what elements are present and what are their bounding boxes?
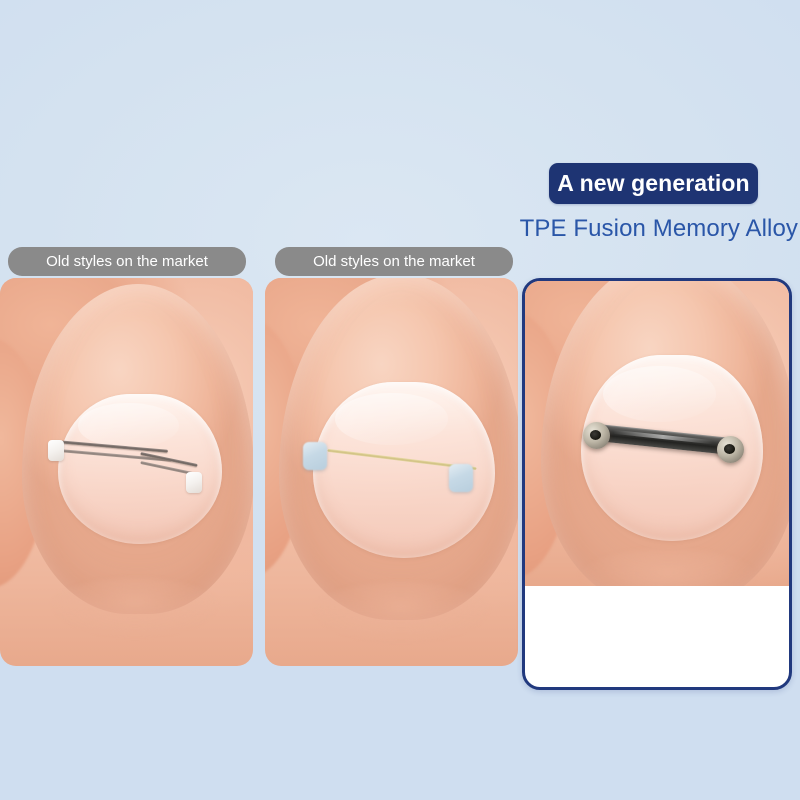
panel-3-photo	[525, 281, 789, 586]
cuticle-shadow	[311, 582, 491, 644]
panel-1-tag-label: Old styles on the market	[46, 253, 208, 270]
cuticle-shadow	[50, 578, 220, 638]
comparison-panel-1: Small adhesion surface is easy to fall o…	[0, 278, 253, 666]
comparison-panel-2: Plastic sheets at both ends fixed The ad…	[265, 278, 518, 666]
comparison-panel-3: Bone-shaped bionic patch 3D fitting surf…	[522, 278, 792, 690]
panel-2-tag: Old styles on the market	[275, 247, 513, 276]
new-generation-badge: A new generation	[549, 163, 758, 204]
badge-label: A new generation	[557, 170, 749, 197]
bionic-patch-end-right	[717, 436, 744, 463]
patch-hole-right	[724, 444, 735, 454]
adhesive-pad-right	[186, 472, 202, 493]
panel-2-tag-label: Old styles on the market	[313, 253, 475, 270]
panel-1-tag: Old styles on the market	[8, 247, 246, 276]
plastic-sheet-left	[303, 442, 327, 470]
plastic-sheet-right	[449, 464, 473, 492]
toenail-plate	[58, 394, 222, 544]
product-comparison-image: A new generation TPE Fusion Memory Alloy…	[0, 0, 800, 800]
panel-1-photo	[0, 278, 253, 666]
patch-hole-left	[590, 430, 601, 440]
bionic-patch-end-left	[583, 422, 610, 449]
subtitle-text: TPE Fusion Memory Alloy	[520, 215, 798, 243]
panel-2-photo	[265, 278, 518, 666]
adhesive-pad-left	[48, 440, 64, 461]
product-subtitle: TPE Fusion Memory Alloy	[440, 213, 800, 245]
